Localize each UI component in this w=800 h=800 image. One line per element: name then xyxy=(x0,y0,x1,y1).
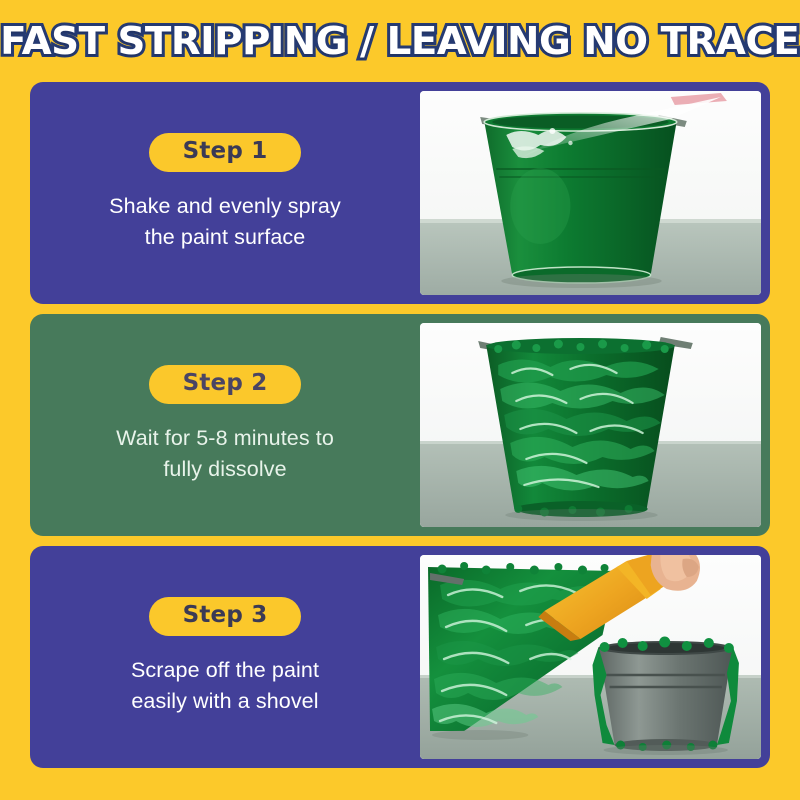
step-2-text-panel: Step 2 Wait for 5-8 minutes to fully dis… xyxy=(30,314,420,536)
step-2-badge: Step 2 xyxy=(149,365,302,404)
step-card-1: Step 1 Shake and evenly spray the paint … xyxy=(30,82,770,304)
infographic-poster: FAST STRIPPING / LEAVING NO TRACE Step 1… xyxy=(0,0,800,800)
photo-step-3-scraping-paint xyxy=(420,555,761,759)
scraping-paint-illustration xyxy=(420,555,761,759)
step-3-badge: Step 3 xyxy=(149,597,302,636)
dissolving-paint-illustration xyxy=(420,323,761,527)
step-2-description: Wait for 5-8 minutes to fully dissolve xyxy=(116,423,334,484)
steps-list: Step 1 Shake and evenly spray the paint … xyxy=(30,82,770,768)
page-title: FAST STRIPPING / LEAVING NO TRACE xyxy=(0,19,799,63)
photo-step-2-dissolving-paint xyxy=(420,323,761,527)
step-1-description-line-1: Shake and evenly spray xyxy=(109,191,341,222)
step-1-badge: Step 1 xyxy=(149,133,302,172)
step-3-description-line-2: easily with a shovel xyxy=(131,686,319,717)
step-1-description: Shake and evenly spray the paint surface xyxy=(109,191,341,252)
step-2-description-line-2: fully dissolve xyxy=(116,454,334,485)
step-card-2: Step 2 Wait for 5-8 minutes to fully dis… xyxy=(30,314,770,536)
step-3-description: Scrape off the paint easily with a shove… xyxy=(131,655,319,716)
step-3-text-panel: Step 3 Scrape off the paint easily with … xyxy=(30,546,420,768)
photo-step-1-spray-bucket xyxy=(420,91,761,295)
step-1-text-panel: Step 1 Shake and evenly spray the paint … xyxy=(30,82,420,304)
step-2-description-line-1: Wait for 5-8 minutes to xyxy=(116,423,334,454)
step-card-3: Step 3 Scrape off the paint easily with … xyxy=(30,546,770,768)
spray-bucket-illustration xyxy=(420,91,761,295)
step-1-description-line-2: the paint surface xyxy=(109,222,341,253)
header-banner: FAST STRIPPING / LEAVING NO TRACE xyxy=(0,0,800,82)
step-3-description-line-1: Scrape off the paint xyxy=(131,655,319,686)
